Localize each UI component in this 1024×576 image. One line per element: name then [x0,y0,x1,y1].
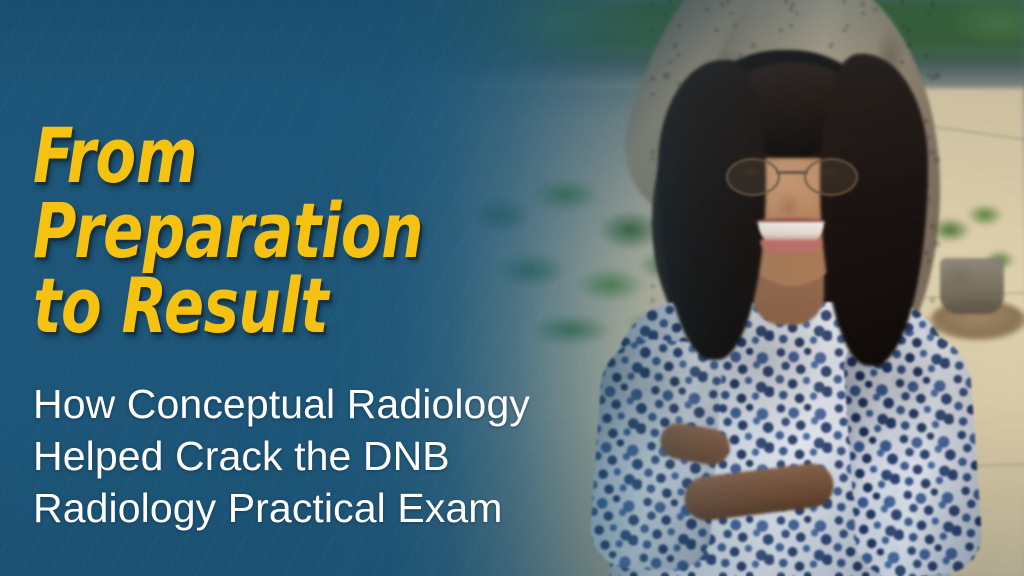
eyeglasses-icon [726,158,858,192]
video-thumbnail: From Preparation to Result How Conceptua… [0,0,1024,576]
eyeglass-lens-left [726,158,780,196]
nose [776,190,802,216]
eyeglass-lens-right [804,158,858,196]
eyeglass-bridge [776,171,808,174]
person-photo-subject [600,40,1024,576]
text-block: From Preparation to Result How Conceptua… [33,118,633,534]
headline-title: From Preparation to Result [33,118,501,344]
subtitle-text: How Conceptual Radiology Helped Crack th… [33,344,633,534]
lower-lip [760,240,822,253]
